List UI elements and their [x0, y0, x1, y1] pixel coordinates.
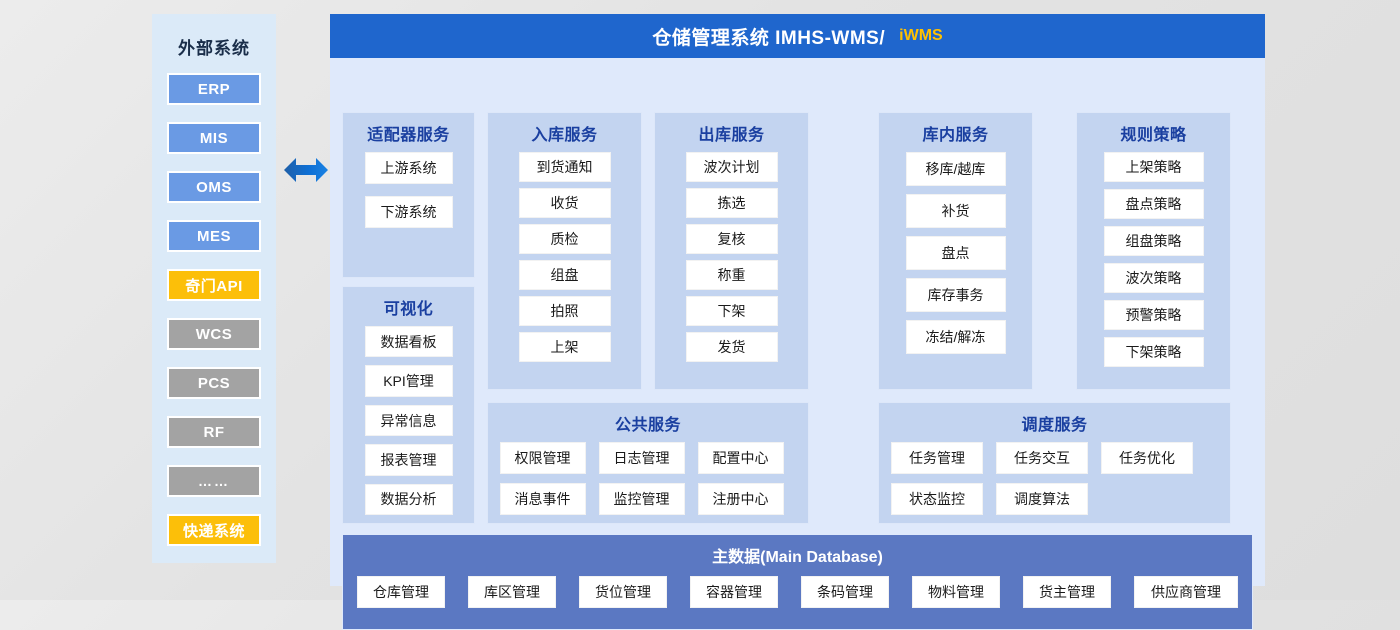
chip-config-center[interactable]: 配置中心 — [698, 442, 784, 474]
chip-downstream-system[interactable]: 下游系统 — [365, 196, 453, 228]
panel-title-inside: 库内服务 — [922, 121, 988, 145]
chip-registry-center[interactable]: 注册中心 — [698, 483, 784, 515]
panel-title-public: 公共服务 — [615, 411, 681, 435]
chip-wave-strategy[interactable]: 波次策略 — [1104, 263, 1204, 293]
panel-scheduler-service: 调度服务 任务管理 任务交互 任务优化 状态监控 调度算法 — [878, 402, 1231, 524]
panel-visualization: 可视化 数据看板 KPI管理 异常信息 报表管理 数据分析 — [342, 286, 475, 524]
wms-main-container: 仓储管理系统 IMHS-WMS/ iWMS 适配器服务 上游系统 下游系统 可视… — [330, 14, 1265, 586]
main-body: 适配器服务 上游系统 下游系统 可视化 数据看板 KPI管理 异常信息 报表管理… — [330, 58, 1265, 586]
chip-upstream-system[interactable]: 上游系统 — [365, 152, 453, 184]
external-item-mis[interactable]: MIS — [167, 122, 261, 154]
chip-takedown[interactable]: 下架 — [686, 296, 778, 326]
chip-photograph[interactable]: 拍照 — [519, 296, 611, 326]
chip-recheck[interactable]: 复核 — [686, 224, 778, 254]
diagram-canvas: 外部系统 ERP MIS OMS MES 奇门API WCS PCS RF ……… — [0, 0, 1400, 600]
panel-rule-strategy: 规则策略 上架策略 盘点策略 组盘策略 波次策略 预警策略 下架策略 — [1076, 112, 1231, 390]
panel-title-main-database: 主数据(Main Database) — [712, 543, 883, 567]
chip-shipping[interactable]: 发货 — [686, 332, 778, 362]
chip-permission-management[interactable]: 权限管理 — [500, 442, 586, 474]
chip-freeze-unfreeze[interactable]: 冻结/解冻 — [906, 320, 1006, 354]
chip-message-event[interactable]: 消息事件 — [500, 483, 586, 515]
panel-outbound-service: 出库服务 波次计划 拣选 复核 称重 下架 发货 — [654, 112, 809, 390]
external-item-pcs[interactable]: PCS — [167, 367, 261, 399]
chip-barcode-management[interactable]: 条码管理 — [801, 576, 889, 608]
chip-location-management[interactable]: 货位管理 — [579, 576, 667, 608]
chip-alert-strategy[interactable]: 预警策略 — [1104, 300, 1204, 330]
external-item-wcs[interactable]: WCS — [167, 318, 261, 350]
main-database-row: 仓库管理 库区管理 货位管理 容器管理 条码管理 物料管理 货主管理 供应商管理 — [357, 576, 1238, 608]
panel-adapter-service: 适配器服务 上游系统 下游系统 — [342, 112, 475, 278]
chip-replenishment[interactable]: 补货 — [906, 194, 1006, 228]
panel-main-database: 主数据(Main Database) 仓库管理 库区管理 货位管理 容器管理 条… — [342, 534, 1253, 630]
panel-inbound-service: 入库服务 到货通知 收货 质检 组盘 拍照 上架 — [487, 112, 642, 390]
chip-stocktaking[interactable]: 盘点 — [906, 236, 1006, 270]
chip-task-interaction[interactable]: 任务交互 — [996, 442, 1088, 474]
panel-title-rules: 规则策略 — [1120, 121, 1186, 145]
chip-exception-info[interactable]: 异常信息 — [365, 405, 453, 436]
panel-public-service: 公共服务 权限管理 日志管理 配置中心 消息事件 监控管理 注册中心 — [487, 402, 809, 524]
chip-data-analysis[interactable]: 数据分析 — [365, 484, 453, 515]
chip-report-management[interactable]: 报表管理 — [365, 444, 453, 475]
chip-owner-management[interactable]: 货主管理 — [1023, 576, 1111, 608]
scheduler-row-1: 任务管理 任务交互 任务优化 — [891, 442, 1218, 474]
chip-weighing[interactable]: 称重 — [686, 260, 778, 290]
external-item-express-system[interactable]: 快递系统 — [167, 514, 261, 546]
external-item-qimen-api[interactable]: 奇门API — [167, 269, 261, 301]
chip-picking[interactable]: 拣选 — [686, 188, 778, 218]
chip-arrival-notice[interactable]: 到货通知 — [519, 152, 611, 182]
main-header-title: 仓储管理系统 IMHS-WMS/ — [652, 23, 885, 50]
column-left: 适配器服务 上游系统 下游系统 可视化 数据看板 KPI管理 异常信息 报表管理… — [342, 112, 475, 278]
external-item-erp[interactable]: ERP — [167, 73, 261, 105]
chip-transfer-crossdock[interactable]: 移库/越库 — [906, 152, 1006, 186]
chip-putaway[interactable]: 上架 — [519, 332, 611, 362]
external-systems-title: 外部系统 — [178, 34, 250, 59]
chip-takedown-strategy[interactable]: 下架策略 — [1104, 337, 1204, 367]
chip-status-monitoring[interactable]: 状态监控 — [891, 483, 983, 515]
chip-palletize-strategy[interactable]: 组盘策略 — [1104, 226, 1204, 256]
chip-quality-check[interactable]: 质检 — [519, 224, 611, 254]
chip-wave-plan[interactable]: 波次计划 — [686, 152, 778, 182]
chip-material-management[interactable]: 物料管理 — [912, 576, 1000, 608]
chip-putaway-strategy[interactable]: 上架策略 — [1104, 152, 1204, 182]
chip-log-management[interactable]: 日志管理 — [599, 442, 685, 474]
panel-title-visualization: 可视化 — [384, 295, 434, 319]
scheduler-row-2: 状态监控 调度算法 — [891, 483, 1218, 515]
chip-container-management[interactable]: 容器管理 — [690, 576, 778, 608]
chip-warehouse-management[interactable]: 仓库管理 — [357, 576, 445, 608]
chip-scheduling-algorithm[interactable]: 调度算法 — [996, 483, 1088, 515]
external-item-oms[interactable]: OMS — [167, 171, 261, 203]
main-header-accent: iWMS — [899, 27, 943, 45]
external-item-mes[interactable]: MES — [167, 220, 261, 252]
public-row-1: 权限管理 日志管理 配置中心 — [500, 442, 797, 474]
chip-data-dashboard[interactable]: 数据看板 — [365, 326, 453, 357]
external-item-more[interactable]: …… — [167, 465, 261, 497]
public-row-2: 消息事件 监控管理 注册中心 — [500, 483, 797, 515]
chip-task-optimization[interactable]: 任务优化 — [1101, 442, 1193, 474]
chip-zone-management[interactable]: 库区管理 — [468, 576, 556, 608]
chip-palletizing[interactable]: 组盘 — [519, 260, 611, 290]
external-item-rf[interactable]: RF — [167, 416, 261, 448]
chip-supplier-management[interactable]: 供应商管理 — [1134, 576, 1238, 608]
main-header: 仓储管理系统 IMHS-WMS/ iWMS — [330, 14, 1265, 58]
chip-kpi-management[interactable]: KPI管理 — [365, 365, 453, 396]
chip-inventory-transaction[interactable]: 库存事务 — [906, 278, 1006, 312]
chip-task-management[interactable]: 任务管理 — [891, 442, 983, 474]
double-arrow-icon — [283, 150, 329, 190]
panel-title-scheduler: 调度服务 — [1021, 411, 1087, 435]
chip-monitor-management[interactable]: 监控管理 — [599, 483, 685, 515]
chip-receiving[interactable]: 收货 — [519, 188, 611, 218]
external-systems-panel: 外部系统 ERP MIS OMS MES 奇门API WCS PCS RF ……… — [152, 14, 276, 563]
panel-title-inbound: 入库服务 — [531, 121, 597, 145]
panel-title-adapter: 适配器服务 — [367, 121, 450, 145]
panel-inside-warehouse-service: 库内服务 移库/越库 补货 盘点 库存事务 冻结/解冻 — [878, 112, 1033, 390]
panel-title-outbound: 出库服务 — [698, 121, 764, 145]
chip-stocktake-strategy[interactable]: 盘点策略 — [1104, 189, 1204, 219]
